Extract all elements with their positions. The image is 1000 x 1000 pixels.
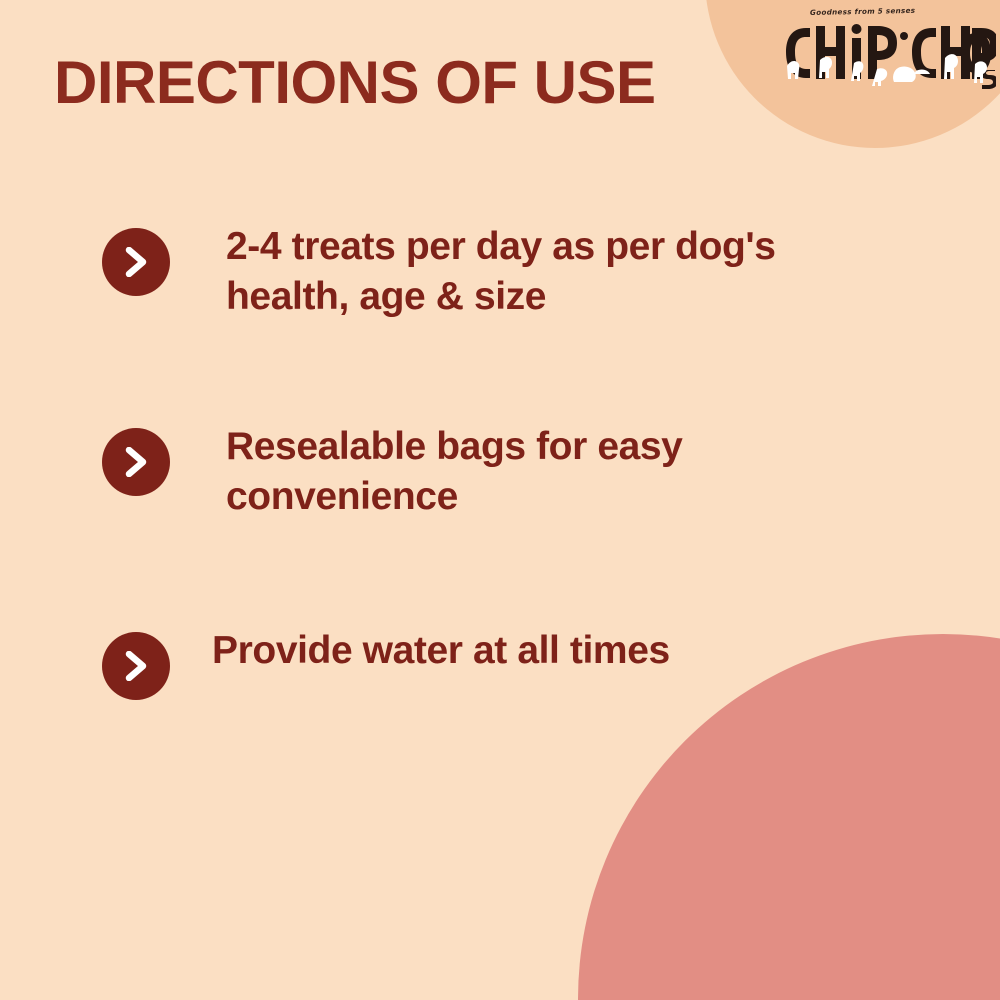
brand-logo: Goodness from 5 senses <box>782 8 996 92</box>
list-item: Resealable bags for easy convenience <box>0 422 1000 522</box>
directions-of-use-poster: Goodness from 5 senses <box>0 0 1000 1000</box>
chevron-right-icon <box>102 632 170 700</box>
list-item-label: Provide water at all times <box>170 626 670 676</box>
chip-chops-wordmark-icon <box>782 16 996 90</box>
list-item: 2-4 treats per day as per dog's health, … <box>0 222 1000 322</box>
list-item: Provide water at all times <box>0 626 1000 700</box>
page-title: DIRECTIONS OF USE <box>54 50 656 116</box>
list-item-label: 2-4 treats per day as per dog's health, … <box>170 222 826 322</box>
list-item-label: Resealable bags for easy convenience <box>170 422 826 522</box>
chevron-right-icon <box>102 428 170 496</box>
chevron-right-icon <box>102 228 170 296</box>
directions-list: 2-4 treats per day as per dog's health, … <box>0 222 1000 700</box>
